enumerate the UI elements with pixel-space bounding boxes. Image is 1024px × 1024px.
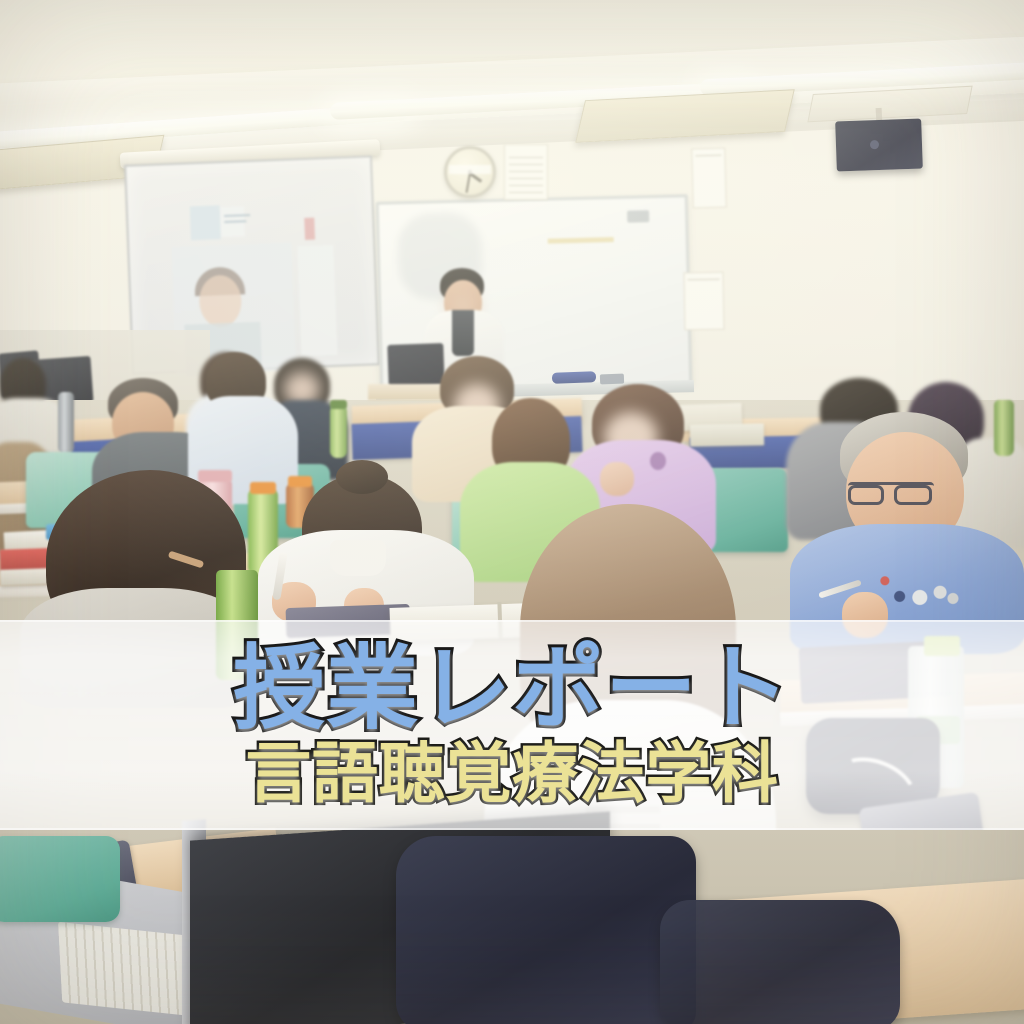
wall-calendar bbox=[504, 144, 548, 200]
whiteboard-eraser-icon bbox=[600, 374, 624, 385]
banner-bottom-rule bbox=[0, 828, 1024, 830]
page-subtitle: 言語聴覚療法学科 bbox=[245, 741, 778, 807]
wall-notice bbox=[683, 272, 724, 331]
calendar-grid bbox=[509, 157, 543, 194]
banner-top-rule bbox=[0, 620, 1024, 622]
clock-minute-hand bbox=[466, 173, 471, 193]
clock-glare bbox=[449, 165, 491, 174]
bottle-cap bbox=[250, 482, 276, 494]
student-hand bbox=[600, 462, 634, 496]
eyeglasses-icon bbox=[848, 482, 934, 504]
bottle-cap bbox=[330, 400, 347, 409]
notice-text-lines bbox=[688, 279, 720, 281]
instructor-inner-shirt bbox=[452, 310, 474, 356]
wall-clock-icon bbox=[444, 146, 496, 198]
whiteboard-logo-icon bbox=[627, 210, 649, 223]
slide-accent bbox=[304, 218, 315, 240]
bottle-cap bbox=[198, 470, 232, 482]
hair-bun bbox=[336, 460, 388, 494]
instructor-laptop bbox=[387, 343, 444, 387]
chair bbox=[0, 836, 120, 922]
banner-image: 授業レポート 言語聴覚療法学科 bbox=[0, 0, 1024, 1024]
bottle-cap bbox=[288, 476, 312, 487]
water-bottle bbox=[330, 406, 347, 458]
title-banner: 授業レポート 言語聴覚療法学科 bbox=[0, 620, 1024, 830]
slide-graphic bbox=[190, 205, 221, 240]
notice-text-lines bbox=[695, 155, 721, 157]
ceiling-speaker-icon bbox=[835, 119, 923, 172]
classroom-photo bbox=[0, 0, 1024, 1024]
backpack bbox=[396, 836, 696, 1024]
whiteboard-marking bbox=[548, 237, 614, 244]
student-mask bbox=[330, 540, 386, 576]
slide-photo-panel bbox=[297, 245, 337, 356]
marker-pen-icon bbox=[552, 371, 596, 384]
backpack bbox=[660, 900, 900, 1024]
thermos bbox=[58, 392, 74, 454]
file-tray bbox=[690, 423, 764, 446]
water-bottle bbox=[994, 400, 1014, 456]
hoodie-emblem bbox=[650, 452, 666, 470]
page-title: 授業レポート bbox=[233, 643, 791, 735]
wall-notice bbox=[691, 148, 727, 209]
